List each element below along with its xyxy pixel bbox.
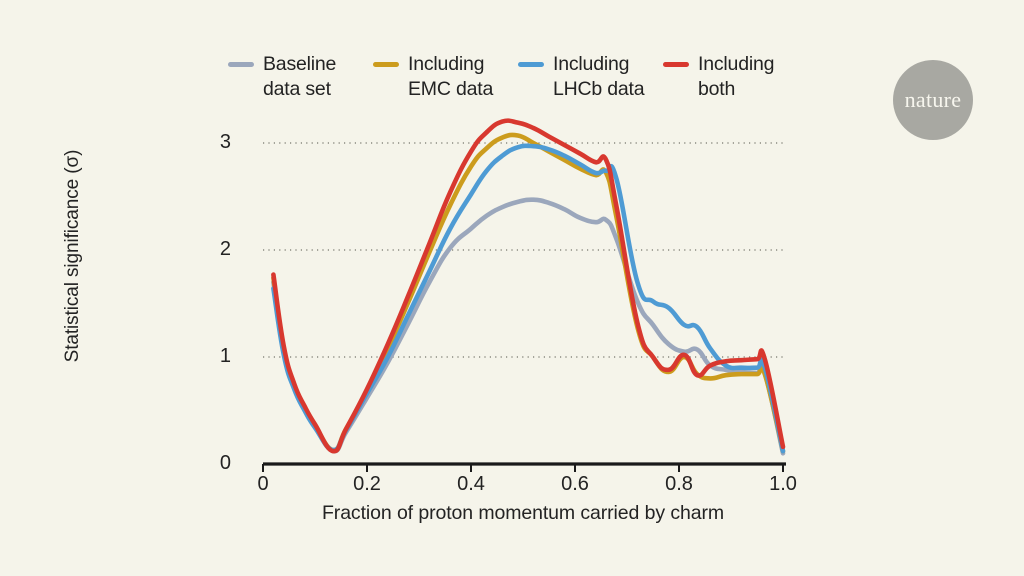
- legend-label-emc: Including EMC data: [408, 52, 493, 102]
- series-line-1: [273, 135, 783, 451]
- x-tick-3: 0.6: [545, 473, 605, 496]
- legend-item-lhcb[interactable]: Including LHCb data: [518, 52, 663, 102]
- legend-item-emc[interactable]: Including EMC data: [373, 52, 518, 102]
- nature-logo-text: nature: [905, 87, 962, 113]
- nature-logo: nature: [893, 60, 973, 140]
- x-tick-4: 0.8: [649, 473, 709, 496]
- gridlines: [263, 143, 786, 357]
- legend-label-lhcb: Including LHCb data: [553, 52, 644, 102]
- x-tick-1: 0.2: [337, 473, 397, 496]
- y-tick-2: 2: [205, 238, 231, 261]
- legend-swatch-lhcb: [518, 62, 544, 67]
- legend-item-baseline[interactable]: Baseline data set: [228, 52, 373, 102]
- legend-swatch-baseline: [228, 62, 254, 67]
- x-axis-label: Fraction of proton momentum carried by c…: [263, 502, 783, 525]
- series-line-3: [273, 121, 783, 452]
- x-tick-2: 0.4: [441, 473, 501, 496]
- y-tick-3: 3: [205, 131, 231, 154]
- y-axis-label: Statistical significance (σ): [62, 91, 84, 421]
- legend-swatch-emc: [373, 62, 399, 67]
- x-tick-5: 1.0: [753, 473, 813, 496]
- legend-item-both[interactable]: Including both: [663, 52, 808, 102]
- y-tick-1: 1: [205, 345, 231, 368]
- legend-label-baseline: Baseline data set: [263, 52, 336, 102]
- x-tick-0: 0: [233, 473, 293, 496]
- legend-label-both: Including both: [698, 52, 774, 102]
- chart-legend: Baseline data set Including EMC data Inc…: [228, 52, 808, 102]
- figure-container: Baseline data set Including EMC data Inc…: [0, 0, 1024, 576]
- data-curves: [273, 121, 783, 454]
- series-line-2: [273, 146, 783, 451]
- series-line-0: [273, 200, 783, 454]
- legend-swatch-both: [663, 62, 689, 67]
- axis-lines: [263, 464, 786, 472]
- y-tick-0: 0: [205, 452, 231, 475]
